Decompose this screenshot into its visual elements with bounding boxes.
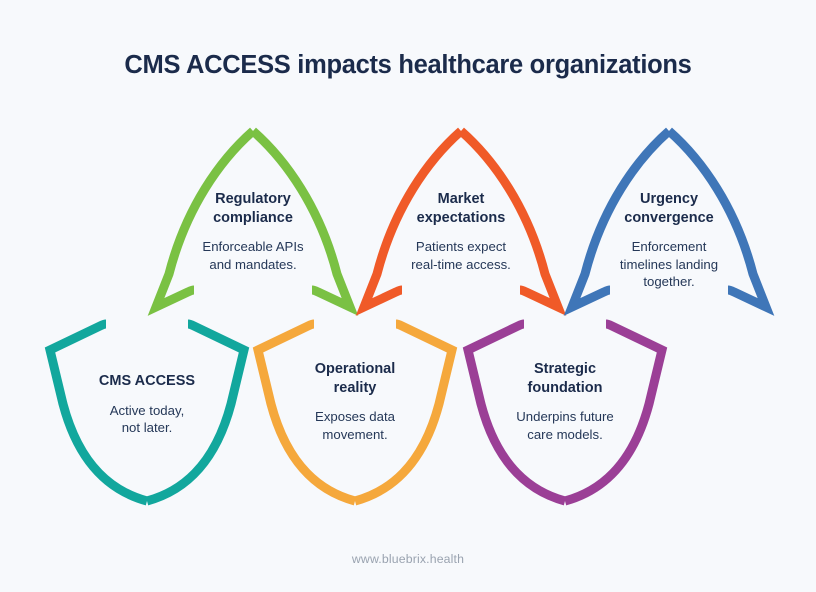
shield-outline-purple — [468, 324, 662, 501]
shield-outline-green — [156, 131, 350, 307]
infographic-canvas: CMS ACCESS impacts healthcare organizati… — [0, 0, 816, 592]
shield-market-expectations[interactable] — [358, 126, 564, 312]
shield-urgency-convergence[interactable] — [566, 126, 772, 312]
shield-diagram: Regulatory compliance Enforceable APIs a… — [0, 0, 816, 592]
shield-cms-access[interactable] — [44, 316, 250, 506]
shield-outline-amber — [258, 324, 452, 501]
shield-regulatory-compliance[interactable] — [150, 126, 356, 312]
shield-strategic-foundation[interactable] — [462, 316, 668, 506]
shield-outline-teal — [50, 324, 244, 501]
shield-operational-reality[interactable] — [252, 316, 458, 506]
shield-outline-orange — [364, 131, 558, 307]
shield-outline-blue — [572, 131, 766, 307]
footer-url: www.bluebrix.health — [0, 552, 816, 566]
